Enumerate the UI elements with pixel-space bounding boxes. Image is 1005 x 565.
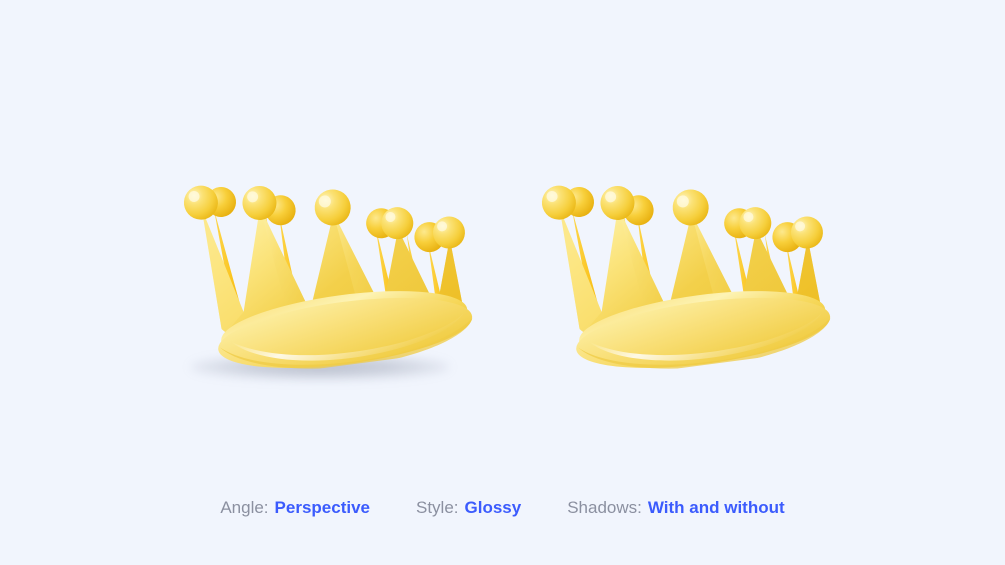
crown-render-2[interactable] xyxy=(500,92,840,392)
caption-label: Angle: xyxy=(220,498,268,518)
crown-icon xyxy=(502,81,844,387)
crown-render-1[interactable] xyxy=(142,92,482,392)
caption-value: Perspective xyxy=(275,498,370,518)
crown-render-gallery xyxy=(0,0,1005,470)
crown-icon xyxy=(144,81,486,387)
caption-value: With and without xyxy=(648,498,785,518)
caption-label: Style: xyxy=(416,498,459,518)
caption-value: Glossy xyxy=(465,498,522,518)
caption-field-0: Angle:Perspective xyxy=(220,498,370,518)
caption-field-2: Shadows:With and without xyxy=(567,498,784,518)
caption-field-1: Style:Glossy xyxy=(416,498,521,518)
render-stage: Angle:PerspectiveStyle:GlossyShadows:Wit… xyxy=(0,0,1005,565)
caption-label: Shadows: xyxy=(567,498,642,518)
render-caption-bar: Angle:PerspectiveStyle:GlossyShadows:Wit… xyxy=(0,498,1005,518)
